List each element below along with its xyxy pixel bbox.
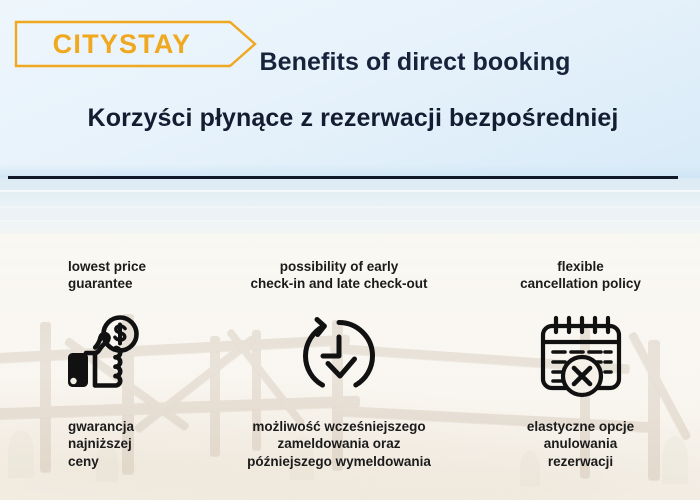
benefit-caption-en: lowest price guarantee (68, 258, 228, 293)
caption-line: anulowania (478, 435, 683, 452)
caption-line: flexible (478, 258, 683, 275)
caption-line: gwarancja (68, 418, 228, 435)
caption-line: rezerwacji (478, 453, 683, 470)
benefit-column-early-checkin: possibility of early check-in and late c… (228, 160, 450, 500)
slide-canvas: CITYSTAY Benefits of direct booking Korz… (0, 0, 700, 500)
benefit-caption-pl: możliwość wcześniejszego zameldowania or… (228, 418, 450, 470)
benefit-icon-slot (478, 308, 683, 404)
caption-line: lowest price (68, 258, 228, 275)
benefits-row: lowest price guarantee (0, 160, 700, 500)
title-polish: Korzyści płynące z rezerwacji bezpośredn… (0, 104, 700, 133)
title-english: Benefits of direct booking (0, 48, 700, 77)
benefit-caption-en: flexible cancellation policy (478, 258, 683, 293)
caption-line: późniejszego wymeldowania (228, 453, 450, 470)
benefit-caption-pl: gwarancja najniższej ceny (68, 418, 228, 470)
benefit-column-cancellation: flexible cancellation policy (478, 160, 683, 500)
benefit-icon-slot (228, 308, 450, 404)
caption-line: możliwość wcześniejszego (228, 418, 450, 435)
caption-line: guarantee (68, 275, 228, 292)
benefit-column-lowest-price: lowest price guarantee (50, 160, 220, 500)
benefit-icon-slot (50, 308, 220, 404)
caption-line: najniższej (68, 435, 228, 452)
header-band: CITYSTAY Benefits of direct booking Korz… (0, 0, 700, 178)
clock-check-icon (298, 315, 380, 397)
caption-line: elastyczne opcje (478, 418, 683, 435)
thumbs-up-coin-icon (62, 315, 148, 397)
benefit-caption-pl: elastyczne opcje anulowania rezerwacji (478, 418, 683, 470)
caption-line: possibility of early (228, 258, 450, 275)
caption-line: check-in and late check-out (228, 275, 450, 292)
caption-line: ceny (68, 453, 228, 470)
caption-line: cancellation policy (478, 275, 683, 292)
header-divider (8, 176, 678, 179)
benefit-caption-en: possibility of early check-in and late c… (228, 258, 450, 293)
calendar-cancel-icon (537, 314, 625, 398)
caption-line: zameldowania oraz (228, 435, 450, 452)
